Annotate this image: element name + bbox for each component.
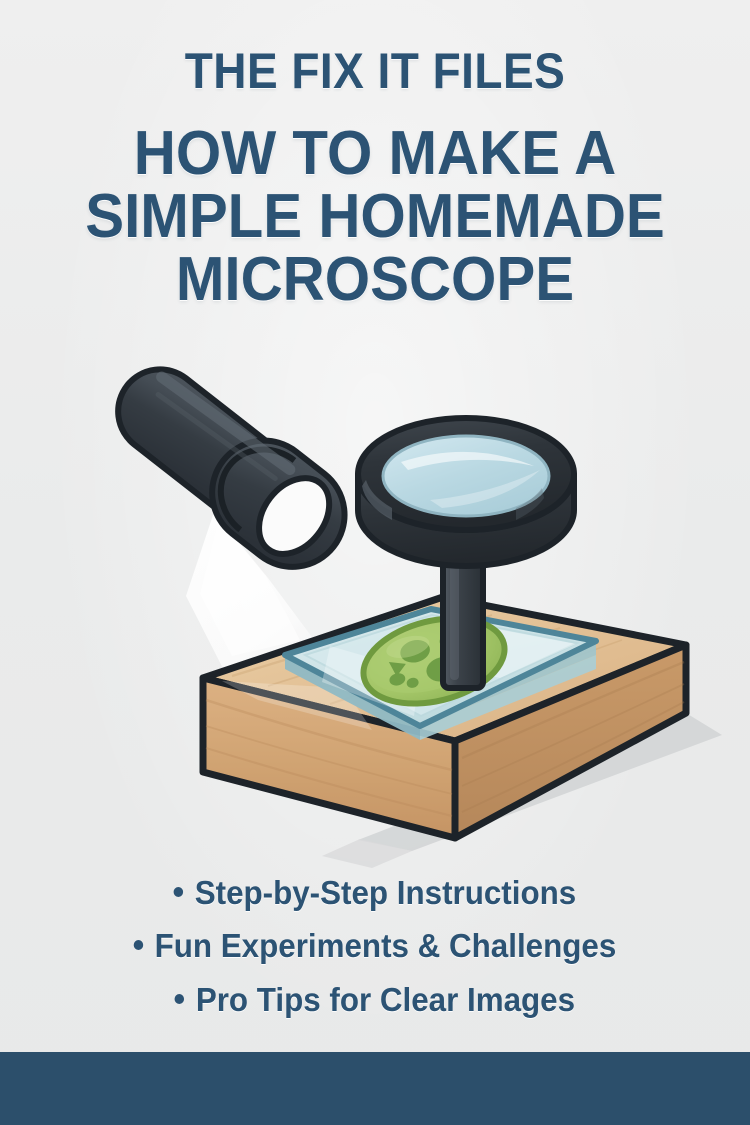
list-item: Pro Tips for Clear Images [19,973,732,1026]
title-line-2: SIMPLE HOMEMADE [23,185,728,248]
poster-canvas: THE FIX IT FILES HOW TO MAKE A SIMPLE HO… [0,0,750,1125]
bullet-dot-icon [134,940,144,950]
bullet-dot-icon [175,994,185,1004]
text-block: THE FIX IT FILES HOW TO MAKE A SIMPLE HO… [0,46,750,312]
kicker-heading: THE FIX IT FILES [30,46,720,96]
list-item-label: Fun Experiments & Challenges [155,927,617,964]
list-item: Fun Experiments & Challenges [19,919,732,972]
title-line-1: HOW TO MAKE A [23,122,728,185]
footer-bar [0,1052,750,1125]
list-item-label: Step-by-Step Instructions [195,874,576,911]
list-item-label: Pro Tips for Clear Images [196,981,575,1018]
page-title: HOW TO MAKE A SIMPLE HOMEMADE MICROSCOPE [0,122,750,312]
magnifying-lens-assembly [358,418,574,566]
feature-list: Step-by-Step Instructions Fun Experiment… [0,866,750,1026]
bullet-dot-icon [174,887,184,897]
list-item: Step-by-Step Instructions [19,866,732,919]
title-line-3: MICROSCOPE [23,248,728,311]
